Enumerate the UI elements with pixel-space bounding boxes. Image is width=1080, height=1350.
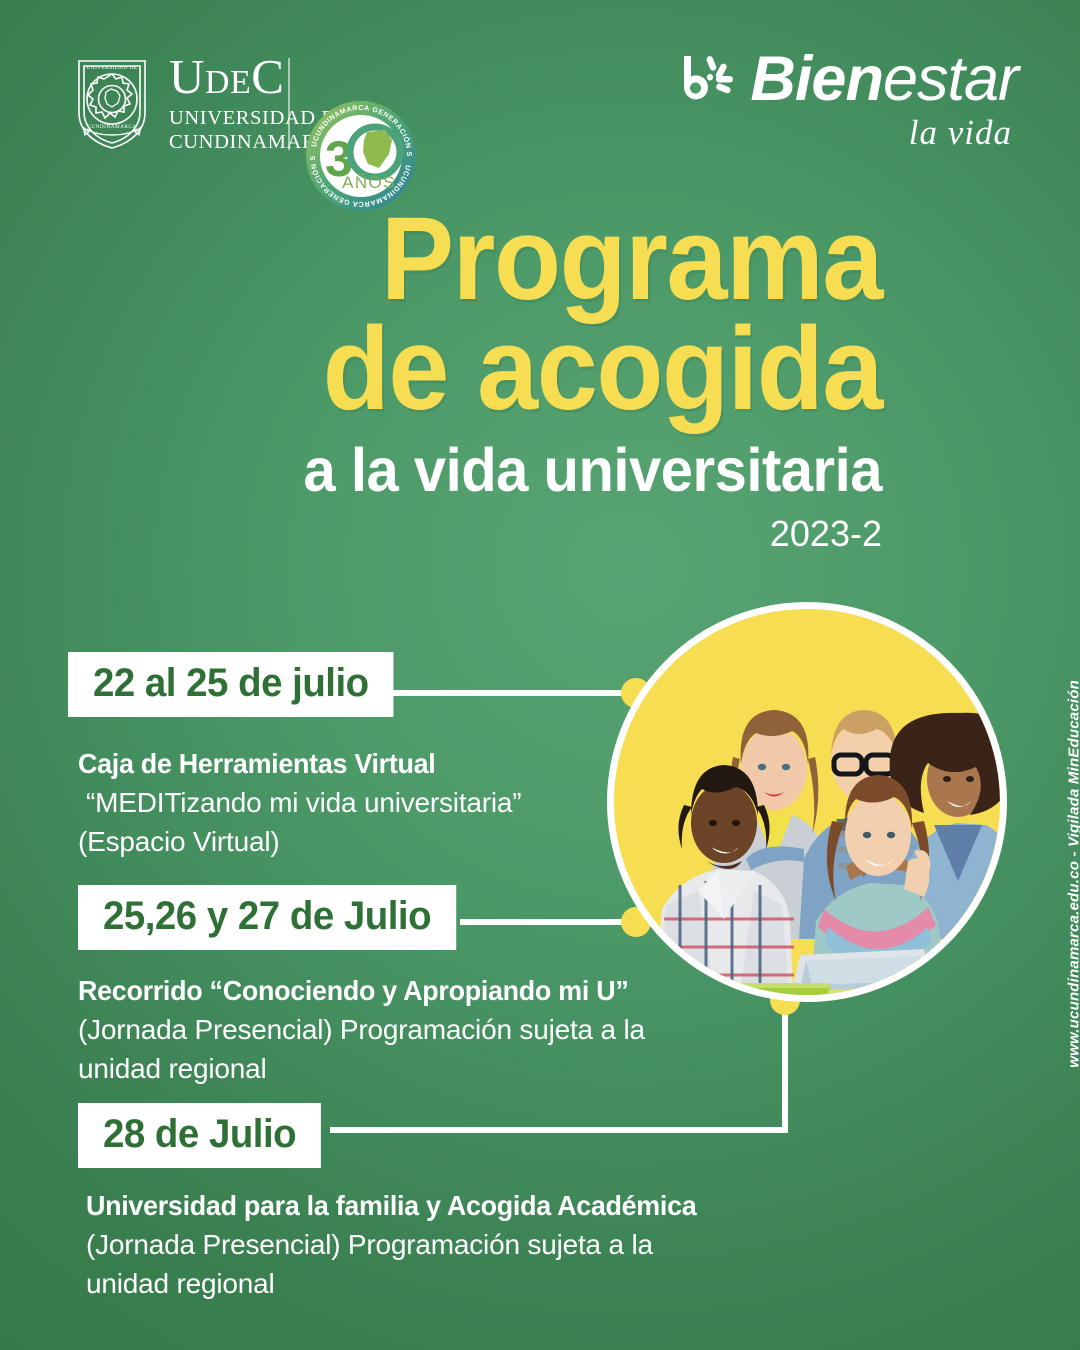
title-line-2: de acogida [62, 315, 882, 425]
page-title: Programa de acogida a la vida universita… [0, 205, 900, 555]
event-description-1: Caja de Herramientas Virtual “MEDITizand… [78, 748, 521, 861]
bienestar-wordmark: Bienestar [750, 48, 1018, 111]
legal-vertical-text: www.ucundinamarca.edu.co - Vigilada MinE… [1066, 680, 1080, 1068]
students-photo-circle [607, 602, 1007, 1002]
event-line-3-0: (Jornada Presencial) Programación sujeta… [86, 1226, 722, 1265]
students-group-photo [614, 609, 1000, 995]
title-subtitle: a la vida universitaria [44, 438, 882, 502]
bienestar-tagline: la vida [678, 113, 1012, 153]
event-description-2: Recorrido “Conociendo y Apropiando mi U”… [78, 975, 651, 1088]
svg-text:AÑOS: AÑOS [342, 173, 396, 192]
event-line-2-1: unidad regional [78, 1050, 651, 1089]
event-line-1-1: (Espacio Virtual) [78, 823, 521, 862]
bienestar-b-mark-icon [678, 52, 744, 108]
poster-header: UNIVERSIDAD DE CUNDINAMARCA UDEC UNIVERS… [0, 48, 1080, 168]
date-badge-2: 25,26 y 27 de Julio [78, 885, 456, 950]
date-badge-3: 28 de Julio [78, 1103, 321, 1168]
udec-acronym: UDEC [169, 52, 350, 101]
title-line-1: Programa [62, 205, 882, 315]
svg-text:CUNDINAMARCA: CUNDINAMARCA [87, 124, 136, 130]
svg-text:UNIVERSIDAD DE: UNIVERSIDAD DE [87, 65, 138, 71]
poster-canvas: UNIVERSIDAD DE CUNDINAMARCA UDEC UNIVERS… [0, 0, 1080, 1350]
bienestar-brand-lockup: Bienestar la vida [678, 48, 1018, 153]
event-line-3-1: unidad regional [86, 1265, 722, 1304]
event-title-2: Recorrido “Conociendo y Apropiando mi U” [78, 975, 629, 1007]
university-shield-icon: UNIVERSIDAD DE CUNDINAMARCA [75, 55, 149, 151]
event-line-1-0: “MEDITizando mi vida universitaria” [78, 784, 521, 823]
header-divider [288, 58, 290, 150]
event-description-3: Universidad para la familia y Acogida Ac… [86, 1190, 722, 1303]
date-badge-1: 22 al 25 de julio [68, 652, 394, 717]
title-term: 2023-2 [0, 513, 882, 555]
event-title-3: Universidad para la familia y Acogida Ac… [86, 1190, 696, 1222]
event-line-2-0: (Jornada Presencial) Programación sujeta… [78, 1011, 651, 1050]
event-title-1: Caja de Herramientas Virtual [78, 748, 504, 780]
